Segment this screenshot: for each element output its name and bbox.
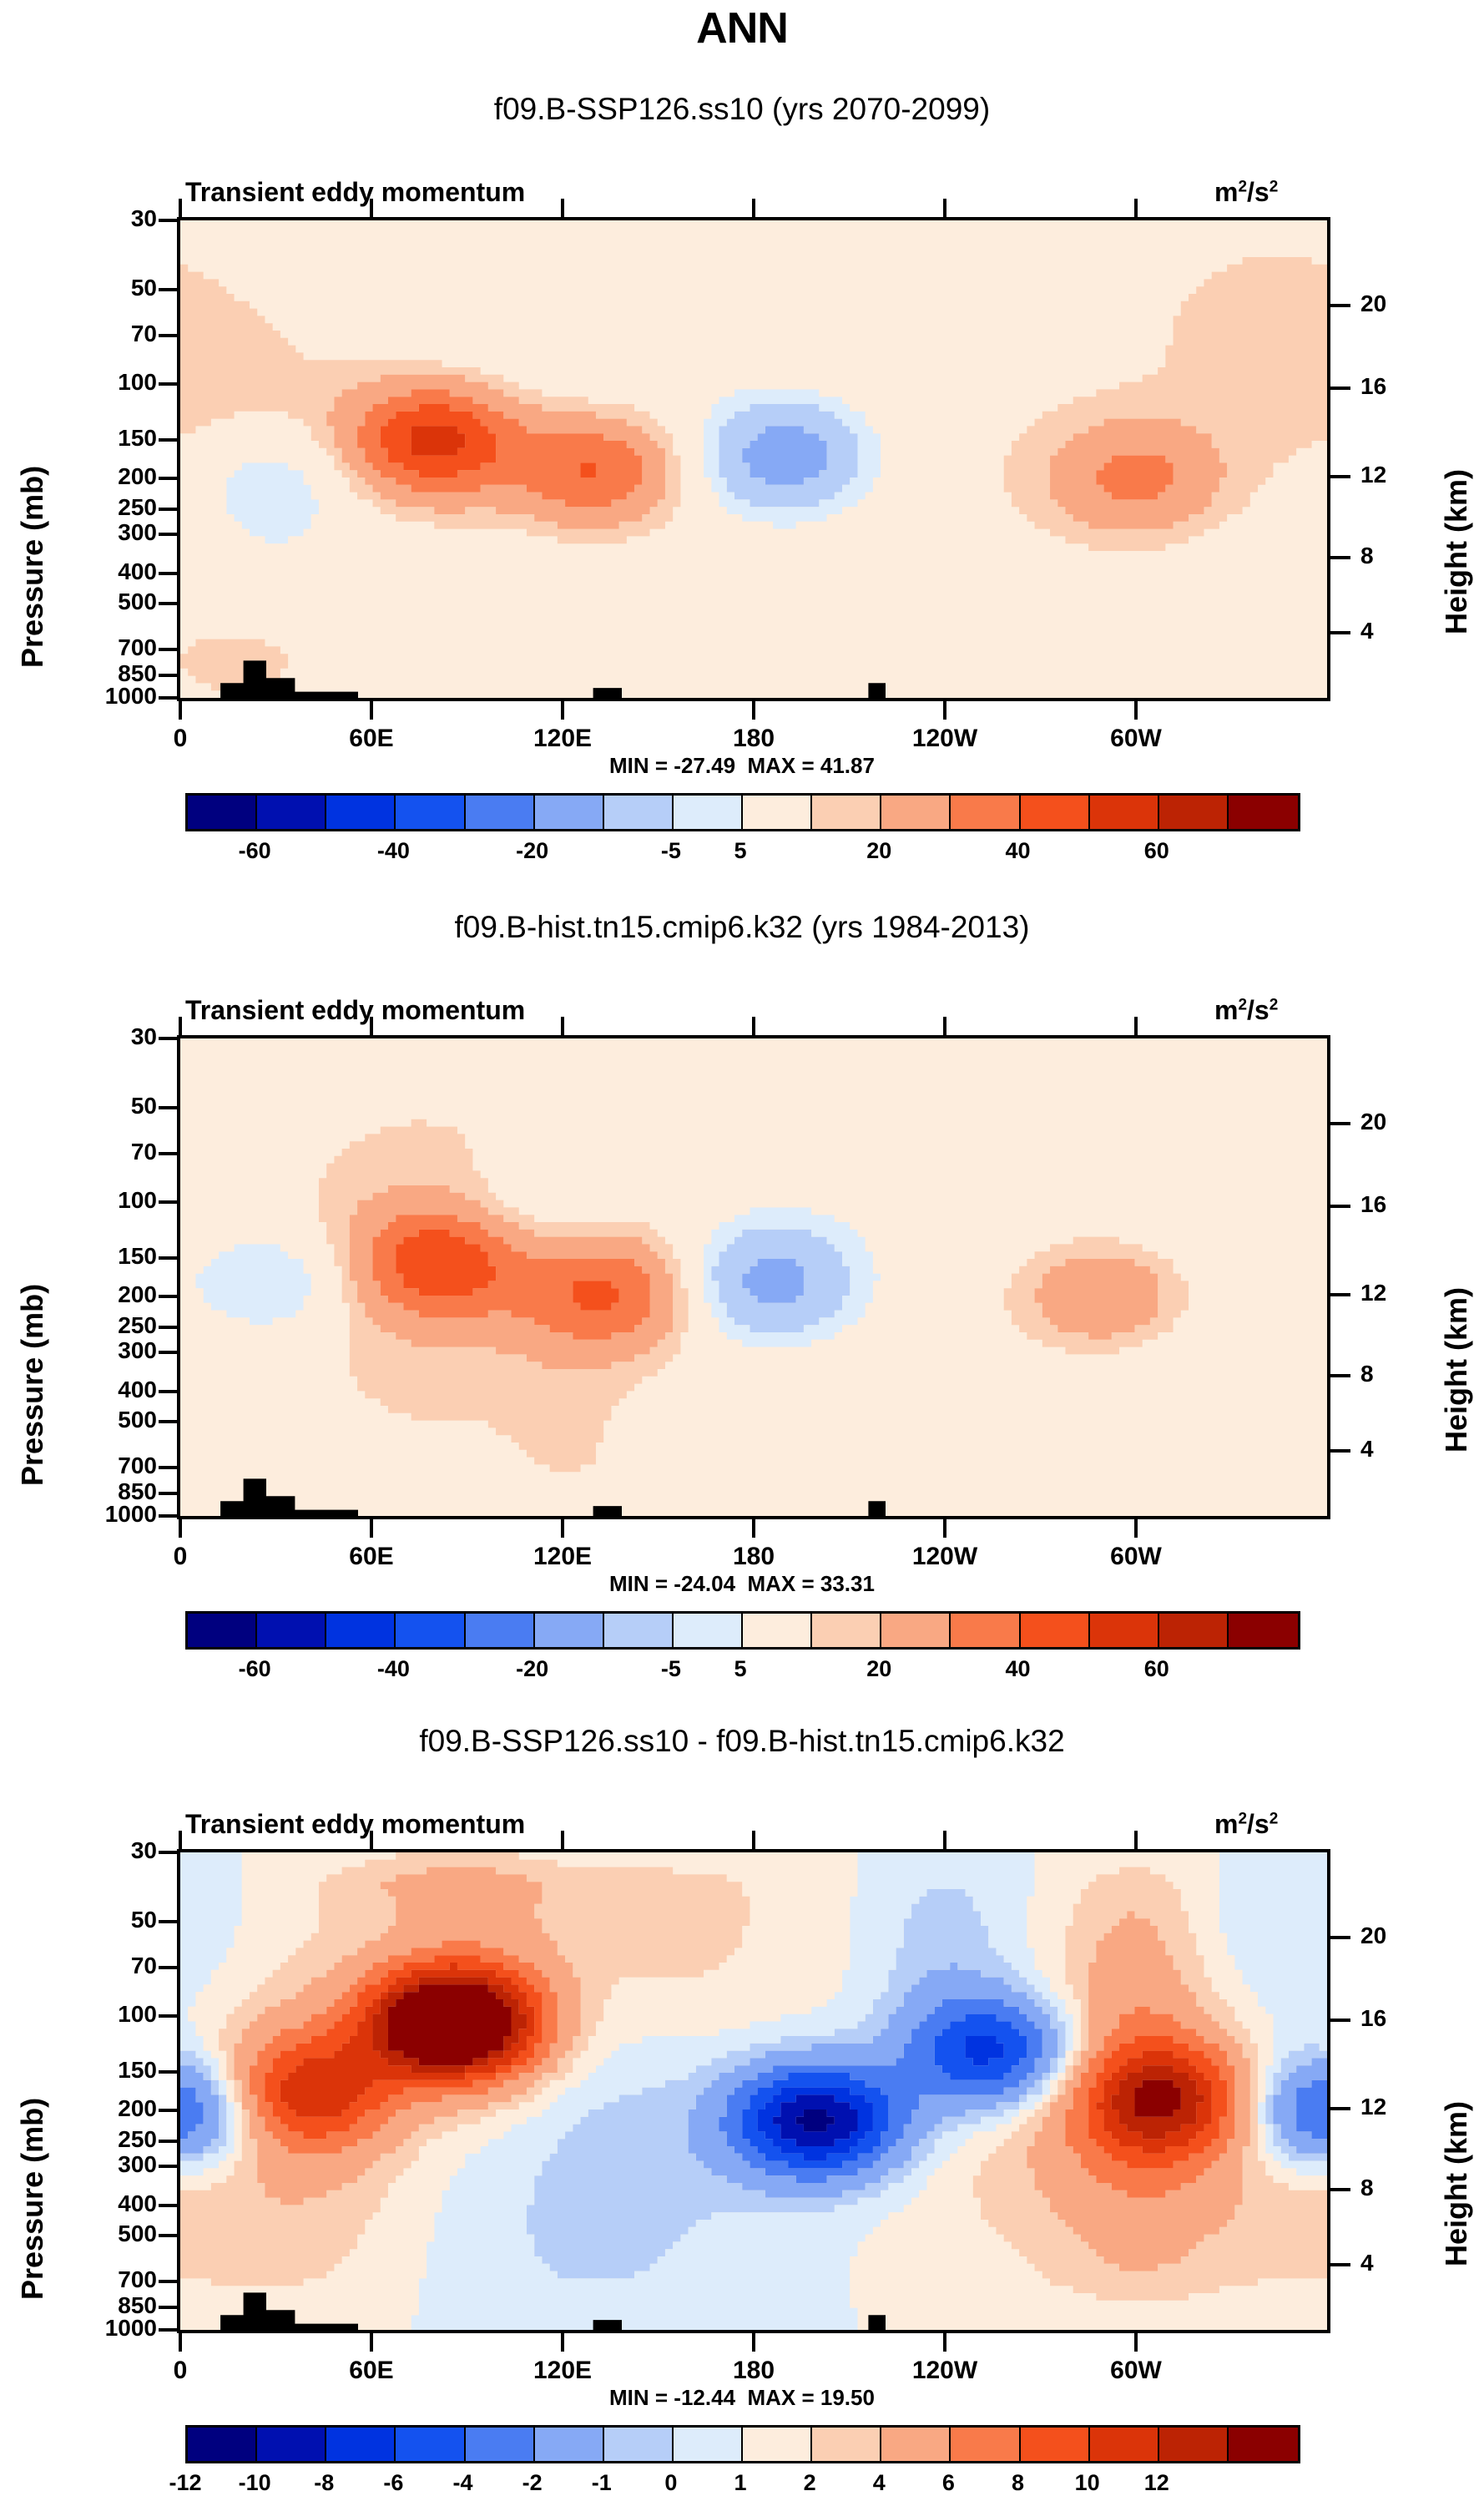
pressure-tick	[159, 1420, 179, 1423]
colorbar-tick-label: -40	[343, 838, 443, 864]
longitude-tick-label: 180	[687, 1543, 820, 1571]
longitude-tick-label: 60W	[1069, 1543, 1203, 1571]
contour-field	[180, 1038, 1327, 1516]
pressure-tick	[159, 2204, 179, 2207]
longitude-tick-top	[370, 1017, 373, 1035]
longitude-tick-top	[179, 199, 182, 217]
longitude-tick-top	[370, 199, 373, 217]
height-tick	[1329, 304, 1350, 307]
longitude-tick-top	[752, 1017, 755, 1035]
pressure-tick	[159, 219, 179, 222]
colorbar-swatch	[951, 2428, 1020, 2461]
pressure-tick-label: 700	[33, 634, 157, 661]
height-tick-label: 8	[1360, 543, 1374, 569]
pressure-tick	[159, 2070, 179, 2074]
colorbar-swatch	[535, 796, 604, 829]
pressure-tick-label: 1000	[33, 683, 157, 710]
longitude-tick-bottom	[752, 2332, 755, 2352]
units-m: m	[1214, 177, 1238, 207]
height-tick	[1329, 387, 1350, 390]
pressure-tick	[159, 1920, 179, 1923]
longitude-tick-bottom	[1134, 700, 1138, 720]
height-tick	[1329, 1374, 1350, 1377]
pressure-tick	[159, 1966, 179, 1969]
height-tick	[1329, 556, 1350, 559]
longitude-tick-bottom	[943, 1518, 946, 1538]
longitude-tick-bottom	[370, 700, 373, 720]
pressure-tick	[159, 1351, 179, 1354]
panel-1: f09.B-SSP126.ss10 (yrs 2070-2099)Transie…	[0, 92, 1484, 843]
pressure-tick	[159, 2140, 179, 2143]
colorbar-swatch	[1159, 796, 1229, 829]
pressure-tick	[159, 1295, 179, 1298]
pressure-tick	[159, 2234, 179, 2237]
panel-title: f09.B-hist.tn15.cmip6.k32 (yrs 1984-2013…	[0, 910, 1484, 945]
units-den-exp: 2	[1269, 1810, 1279, 1827]
longitude-tick-top	[561, 1831, 564, 1849]
panel-title: f09.B-SSP126.ss10 - f09.B-hist.tn15.cmip…	[0, 1724, 1484, 1759]
colorbar-swatch	[326, 2428, 396, 2461]
pressure-tick-label: 250	[33, 1312, 157, 1339]
longitude-tick-top	[179, 1017, 182, 1035]
longitude-tick-top	[179, 1831, 182, 1849]
min-value: MIN = -27.49	[609, 753, 735, 778]
colorbar-swatch	[1021, 1614, 1090, 1647]
longitude-tick-label: 0	[114, 1543, 247, 1571]
colorbar	[185, 793, 1300, 831]
pressure-tick-label: 150	[33, 425, 157, 452]
longitude-tick-bottom	[561, 2332, 564, 2352]
colorbar-swatch	[881, 2428, 951, 2461]
pressure-tick	[159, 1466, 179, 1469]
longitude-tick-label: 120W	[878, 725, 1012, 753]
pressure-tick	[159, 2165, 179, 2168]
pressure-tick-label: 150	[33, 1243, 157, 1270]
colorbar-tick-label: 40	[968, 1656, 1068, 1682]
colorbar-swatch	[188, 2428, 257, 2461]
units-exp: 2	[1238, 996, 1247, 1013]
colorbar-swatch	[812, 2428, 881, 2461]
minmax-annotation: MIN = -24.04 MAX = 33.31	[0, 1571, 1484, 1597]
colorbar-tick-label: 20	[829, 1656, 929, 1682]
longitude-tick-top	[943, 199, 946, 217]
pressure-tick-label: 400	[33, 1377, 157, 1403]
colorbar-swatch	[674, 1614, 743, 1647]
pressure-tick-label: 250	[33, 2126, 157, 2153]
height-tick-label: 8	[1360, 2175, 1374, 2201]
pressure-tick	[159, 1326, 179, 1329]
units-m: m	[1214, 1809, 1238, 1839]
longitude-tick-bottom	[943, 2332, 946, 2352]
colorbar-swatch	[257, 796, 326, 829]
longitude-tick-label: 120W	[878, 2357, 1012, 2385]
units-label: m2/s2	[1214, 995, 1278, 1026]
colorbar-swatch	[743, 796, 812, 829]
colorbar-swatch	[1090, 1614, 1159, 1647]
pressure-tick	[159, 1514, 179, 1518]
longitude-tick-label: 120E	[496, 1543, 629, 1571]
height-tick	[1329, 2188, 1350, 2191]
units-label: m2/s2	[1214, 1809, 1278, 1840]
max-value: MAX = 19.50	[747, 2385, 874, 2410]
minmax-annotation: MIN = -27.49 MAX = 41.87	[0, 753, 1484, 779]
colorbar-tick-label: 60	[1107, 838, 1207, 864]
pressure-tick	[159, 602, 179, 605]
variable-label: Transient eddy momentum	[185, 995, 525, 1026]
colorbar-swatch	[743, 2428, 812, 2461]
longitude-tick-bottom	[370, 1518, 373, 1538]
pressure-tick-label: 500	[33, 2221, 157, 2247]
pressure-tick-label: 100	[33, 2001, 157, 2028]
colorbar-swatch	[326, 796, 396, 829]
height-tick-label: 12	[1360, 2094, 1386, 2120]
colorbar-swatch	[396, 1614, 465, 1647]
colorbar-swatch	[188, 1614, 257, 1647]
colorbar-swatch	[257, 2428, 326, 2461]
colorbar-tick-label: 40	[968, 838, 1068, 864]
contour-plot-area	[177, 1849, 1330, 2333]
units-s: /s	[1247, 177, 1269, 207]
longitude-tick-bottom	[561, 700, 564, 720]
pressure-tick-label: 50	[33, 1093, 157, 1119]
pressure-tick-label: 250	[33, 494, 157, 521]
height-tick	[1329, 1205, 1350, 1208]
colorbar	[185, 2425, 1300, 2463]
min-value: MIN = -12.44	[609, 2385, 735, 2410]
pressure-tick	[159, 648, 179, 651]
colorbar-tick-label: 5	[690, 1656, 790, 1682]
longitude-tick-top	[943, 1017, 946, 1035]
longitude-tick-label: 0	[114, 725, 247, 753]
longitude-tick-label: 180	[687, 725, 820, 753]
colorbar-swatch	[1229, 796, 1298, 829]
colorbar-swatch	[881, 796, 951, 829]
longitude-tick-bottom	[752, 700, 755, 720]
pressure-tick-label: 200	[33, 2095, 157, 2122]
colorbar-swatch	[812, 1614, 881, 1647]
pressure-tick-label: 700	[33, 2266, 157, 2293]
pressure-tick-label: 300	[33, 1337, 157, 1364]
pressure-tick	[159, 508, 179, 511]
longitude-tick-label: 120W	[878, 1543, 1012, 1571]
pressure-axis-title: Pressure (mb)	[15, 1284, 50, 1486]
longitude-tick-label: 120E	[496, 725, 629, 753]
pressure-tick	[159, 2328, 179, 2332]
pressure-axis-title: Pressure (mb)	[15, 2098, 50, 2300]
colorbar-swatch	[743, 1614, 812, 1647]
colorbar-swatch	[604, 796, 674, 829]
pressure-tick-label: 500	[33, 1407, 157, 1433]
height-tick-label: 20	[1360, 291, 1386, 317]
colorbar-swatch	[466, 796, 535, 829]
pressure-tick	[159, 674, 179, 677]
pressure-tick-label: 700	[33, 1453, 157, 1479]
colorbar-swatch	[326, 1614, 396, 1647]
longitude-tick-label: 60E	[305, 725, 438, 753]
pressure-tick	[159, 696, 179, 700]
longitude-tick-label: 60W	[1069, 725, 1203, 753]
colorbar-swatch	[466, 1614, 535, 1647]
longitude-tick-top	[752, 199, 755, 217]
pressure-tick	[159, 1390, 179, 1393]
longitude-tick-label: 60E	[305, 2357, 438, 2385]
colorbar-tick-label: 5	[690, 838, 790, 864]
pressure-tick-label: 30	[33, 205, 157, 232]
colorbar-swatch	[1021, 2428, 1090, 2461]
colorbar-swatch	[535, 2428, 604, 2461]
units-label: m2/s2	[1214, 177, 1278, 208]
longitude-tick-top	[752, 1831, 755, 1849]
pressure-tick-label: 100	[33, 369, 157, 396]
longitude-tick-top	[561, 199, 564, 217]
pressure-tick	[159, 1851, 179, 1854]
panel-3: f09.B-SSP126.ss10 - f09.B-hist.tn15.cmip…	[0, 1724, 1484, 2475]
height-tick	[1329, 2263, 1350, 2266]
contour-plot-area	[177, 217, 1330, 701]
colorbar-swatch	[1229, 2428, 1298, 2461]
page-title: ANN	[0, 3, 1484, 53]
min-value: MIN = -24.04	[609, 1571, 735, 1596]
colorbar-swatch	[1090, 796, 1159, 829]
longitude-tick-label: 120E	[496, 2357, 629, 2385]
pressure-tick-label: 30	[33, 1023, 157, 1050]
height-tick	[1329, 2107, 1350, 2110]
longitude-tick-bottom	[1134, 2332, 1138, 2352]
colorbar-tick-label: -40	[343, 1656, 443, 1682]
height-axis-title: Height (km)	[1439, 1287, 1474, 1453]
height-tick-label: 8	[1360, 1361, 1374, 1387]
height-tick-label: 16	[1360, 2005, 1386, 2032]
longitude-tick-label: 60E	[305, 1543, 438, 1571]
pressure-tick	[159, 1492, 179, 1495]
height-tick-label: 12	[1360, 1280, 1386, 1306]
longitude-tick-bottom	[752, 1518, 755, 1538]
units-m: m	[1214, 995, 1238, 1025]
units-s: /s	[1247, 995, 1269, 1025]
pressure-tick	[159, 533, 179, 536]
longitude-tick-top	[561, 1017, 564, 1035]
height-tick-label: 4	[1360, 1436, 1374, 1463]
pressure-tick-label: 300	[33, 2151, 157, 2178]
pressure-tick	[159, 288, 179, 291]
colorbar-swatch	[674, 796, 743, 829]
pressure-tick-label: 400	[33, 558, 157, 585]
colorbar-tick-label: 20	[829, 838, 929, 864]
longitude-tick-bottom	[561, 1518, 564, 1538]
variable-label: Transient eddy momentum	[185, 1809, 525, 1840]
pressure-tick-label: 500	[33, 589, 157, 615]
longitude-tick-top	[1134, 1017, 1138, 1035]
height-tick	[1329, 1449, 1350, 1453]
pressure-tick	[159, 2109, 179, 2112]
pressure-tick-label: 30	[33, 1837, 157, 1864]
longitude-tick-top	[370, 1831, 373, 1849]
pressure-tick-label: 1000	[33, 1501, 157, 1528]
pressure-tick-label: 50	[33, 1907, 157, 1933]
units-den-exp: 2	[1269, 178, 1279, 195]
colorbar-swatch	[604, 2428, 674, 2461]
colorbar-swatch	[257, 1614, 326, 1647]
height-tick-label: 20	[1360, 1923, 1386, 1949]
units-s: /s	[1247, 1809, 1269, 1839]
max-value: MAX = 41.87	[747, 753, 874, 778]
height-tick	[1329, 475, 1350, 478]
longitude-tick-top	[1134, 199, 1138, 217]
height-tick-label: 4	[1360, 2250, 1374, 2276]
pressure-tick	[159, 2280, 179, 2283]
colorbar-swatch	[1159, 1614, 1229, 1647]
minmax-annotation: MIN = -12.44 MAX = 19.50	[0, 2385, 1484, 2411]
units-exp: 2	[1238, 178, 1247, 195]
pressure-tick-label: 70	[33, 1953, 157, 1979]
pressure-tick	[159, 1152, 179, 1155]
colorbar-tick-label: -20	[482, 1656, 583, 1682]
height-tick-label: 12	[1360, 462, 1386, 488]
pressure-tick	[159, 438, 179, 442]
colorbar-tick-label: 60	[1107, 1656, 1207, 1682]
colorbar-tick-label: -60	[204, 1656, 305, 1682]
colorbar	[185, 1611, 1300, 1650]
pressure-tick-label: 400	[33, 2190, 157, 2217]
pressure-tick	[159, 2014, 179, 2018]
colorbar-tick-label: -60	[204, 838, 305, 864]
longitude-tick-top	[1134, 1831, 1138, 1849]
height-tick	[1329, 1122, 1350, 1125]
colorbar-tick-label: -20	[482, 838, 583, 864]
colorbar-swatch	[812, 796, 881, 829]
colorbar-swatch	[535, 1614, 604, 1647]
pressure-tick	[159, 1106, 179, 1109]
contour-plot-area	[177, 1035, 1330, 1519]
colorbar-swatch	[604, 1614, 674, 1647]
max-value: MAX = 33.31	[747, 1571, 874, 1596]
pressure-axis-title: Pressure (mb)	[15, 466, 50, 668]
colorbar-swatch	[188, 796, 257, 829]
longitude-tick-bottom	[370, 2332, 373, 2352]
units-exp: 2	[1238, 1810, 1247, 1827]
height-axis-title: Height (km)	[1439, 469, 1474, 634]
height-tick	[1329, 2019, 1350, 2022]
pressure-tick	[159, 382, 179, 386]
pressure-tick-label: 150	[33, 2057, 157, 2084]
height-tick-label: 16	[1360, 1191, 1386, 1218]
pressure-tick	[159, 2306, 179, 2309]
height-tick-label: 4	[1360, 618, 1374, 644]
longitude-tick-label: 60W	[1069, 2357, 1203, 2385]
colorbar-swatch	[951, 796, 1020, 829]
pressure-tick	[159, 1256, 179, 1260]
longitude-tick-bottom	[1134, 1518, 1138, 1538]
colorbar-swatch	[396, 796, 465, 829]
colorbar-tick-label: 12	[1107, 2470, 1207, 2496]
pressure-tick	[159, 477, 179, 480]
height-tick	[1329, 631, 1350, 634]
pressure-tick	[159, 572, 179, 575]
colorbar-swatch	[881, 1614, 951, 1647]
longitude-tick-label: 180	[687, 2357, 820, 2385]
units-den-exp: 2	[1269, 996, 1279, 1013]
longitude-tick-label: 0	[114, 2357, 247, 2385]
colorbar-swatch	[674, 2428, 743, 2461]
colorbar-swatch	[1229, 1614, 1298, 1647]
panel-title: f09.B-SSP126.ss10 (yrs 2070-2099)	[0, 92, 1484, 127]
height-tick	[1329, 1293, 1350, 1296]
height-tick-label: 20	[1360, 1109, 1386, 1135]
height-tick-label: 16	[1360, 373, 1386, 400]
pressure-tick-label: 300	[33, 519, 157, 546]
longitude-tick-bottom	[943, 700, 946, 720]
colorbar-swatch	[1021, 796, 1090, 829]
pressure-tick	[159, 1200, 179, 1204]
longitude-tick-bottom	[179, 2332, 182, 2352]
colorbar-swatch	[1090, 2428, 1159, 2461]
longitude-tick-bottom	[179, 700, 182, 720]
longitude-tick-bottom	[179, 1518, 182, 1538]
pressure-tick-label: 100	[33, 1187, 157, 1214]
colorbar-swatch	[1159, 2428, 1229, 2461]
pressure-tick-label: 50	[33, 275, 157, 301]
contour-field	[180, 1852, 1327, 2330]
pressure-tick-label: 200	[33, 1281, 157, 1308]
colorbar-swatch	[396, 2428, 465, 2461]
pressure-tick-label: 1000	[33, 2315, 157, 2342]
colorbar-swatch	[466, 2428, 535, 2461]
pressure-tick	[159, 334, 179, 337]
variable-label: Transient eddy momentum	[185, 177, 525, 208]
pressure-tick-label: 200	[33, 463, 157, 490]
colorbar-swatch	[951, 1614, 1020, 1647]
height-axis-title: Height (km)	[1439, 2101, 1474, 2266]
panel-2: f09.B-hist.tn15.cmip6.k32 (yrs 1984-2013…	[0, 910, 1484, 1661]
contour-field	[180, 220, 1327, 698]
pressure-tick-label: 70	[33, 321, 157, 347]
height-tick	[1329, 1936, 1350, 1939]
pressure-tick-label: 70	[33, 1139, 157, 1165]
longitude-tick-top	[943, 1831, 946, 1849]
pressure-tick	[159, 1037, 179, 1040]
contour-band	[411, 426, 466, 455]
